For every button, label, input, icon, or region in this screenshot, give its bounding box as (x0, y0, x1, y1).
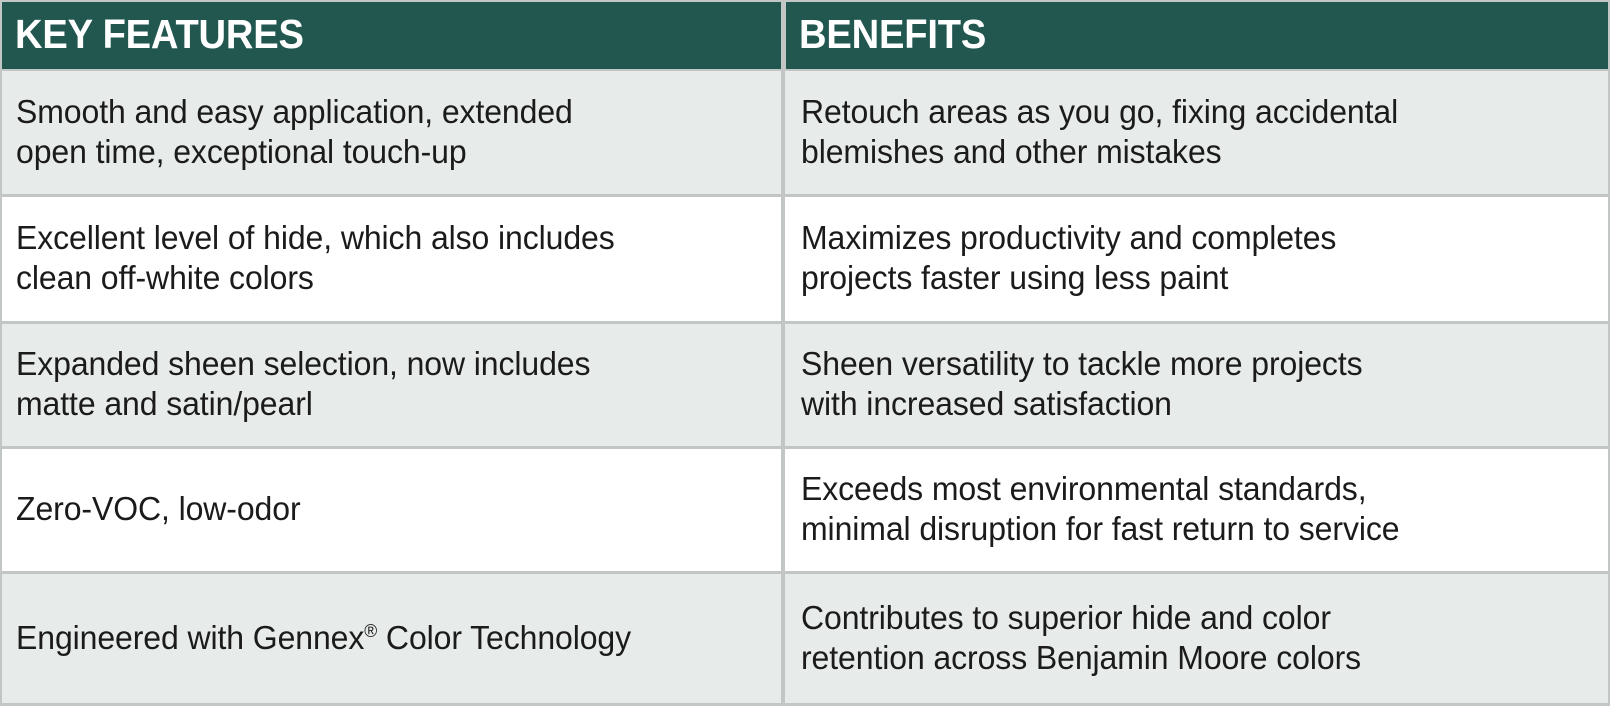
table-row: Expanded sheen selection, now includesma… (0, 324, 1610, 449)
table-cell-benefits: Maximizes productivity and completesproj… (783, 197, 1610, 324)
table-header-cell-benefits: BENEFITS (783, 0, 1610, 71)
table-cell-text: Engineered with Gennex® Color Technology (16, 619, 631, 659)
table-row: Smooth and easy application, extendedope… (0, 71, 1610, 197)
table-cell-text: Zero-VOC, low-odor (16, 490, 301, 530)
table-cell-benefits: Exceeds most environmental standards,min… (783, 449, 1610, 574)
table-cell-text: Expanded sheen selection, now includesma… (16, 345, 590, 424)
table-cell-text: Contributes to superior hide and colorre… (801, 599, 1361, 678)
table-cell-key-features: Expanded sheen selection, now includesma… (0, 324, 783, 449)
table-cell-text: Smooth and easy application, extendedope… (16, 93, 573, 172)
table-cell-benefits: Retouch areas as you go, fixing accident… (783, 71, 1610, 197)
table-cell-text: Sheen versatility to tackle more project… (801, 345, 1363, 424)
table-cell-text: Excellent level of hide, which also incl… (16, 219, 615, 298)
table-header-cell-key-features: KEY FEATURES (0, 0, 783, 71)
features-benefits-table: KEY FEATURES BENEFITS Smooth and easy ap… (0, 0, 1610, 706)
table-cell-text: Maximizes productivity and completesproj… (801, 219, 1336, 298)
table-cell-key-features: Engineered with Gennex® Color Technology (0, 574, 783, 706)
table-cell-benefits: Contributes to superior hide and colorre… (783, 574, 1610, 706)
table-header-row: KEY FEATURES BENEFITS (0, 0, 1610, 71)
table-cell-text: Retouch areas as you go, fixing accident… (801, 93, 1398, 172)
table-body: Smooth and easy application, extendedope… (0, 71, 1610, 706)
table-row: Zero-VOC, low-odor Exceeds most environm… (0, 449, 1610, 574)
table-row: Excellent level of hide, which also incl… (0, 197, 1610, 324)
table-header-label-key-features: KEY FEATURES (2, 14, 304, 58)
table-row: Engineered with Gennex® Color Technology… (0, 574, 1610, 706)
table-cell-text: Exceeds most environmental standards,min… (801, 470, 1399, 549)
table-header-label-benefits: BENEFITS (786, 14, 986, 58)
table-cell-key-features: Zero-VOC, low-odor (0, 449, 783, 574)
table-cell-key-features: Smooth and easy application, extendedope… (0, 71, 783, 197)
table-cell-key-features: Excellent level of hide, which also incl… (0, 197, 783, 324)
table-cell-benefits: Sheen versatility to tackle more project… (783, 324, 1610, 449)
